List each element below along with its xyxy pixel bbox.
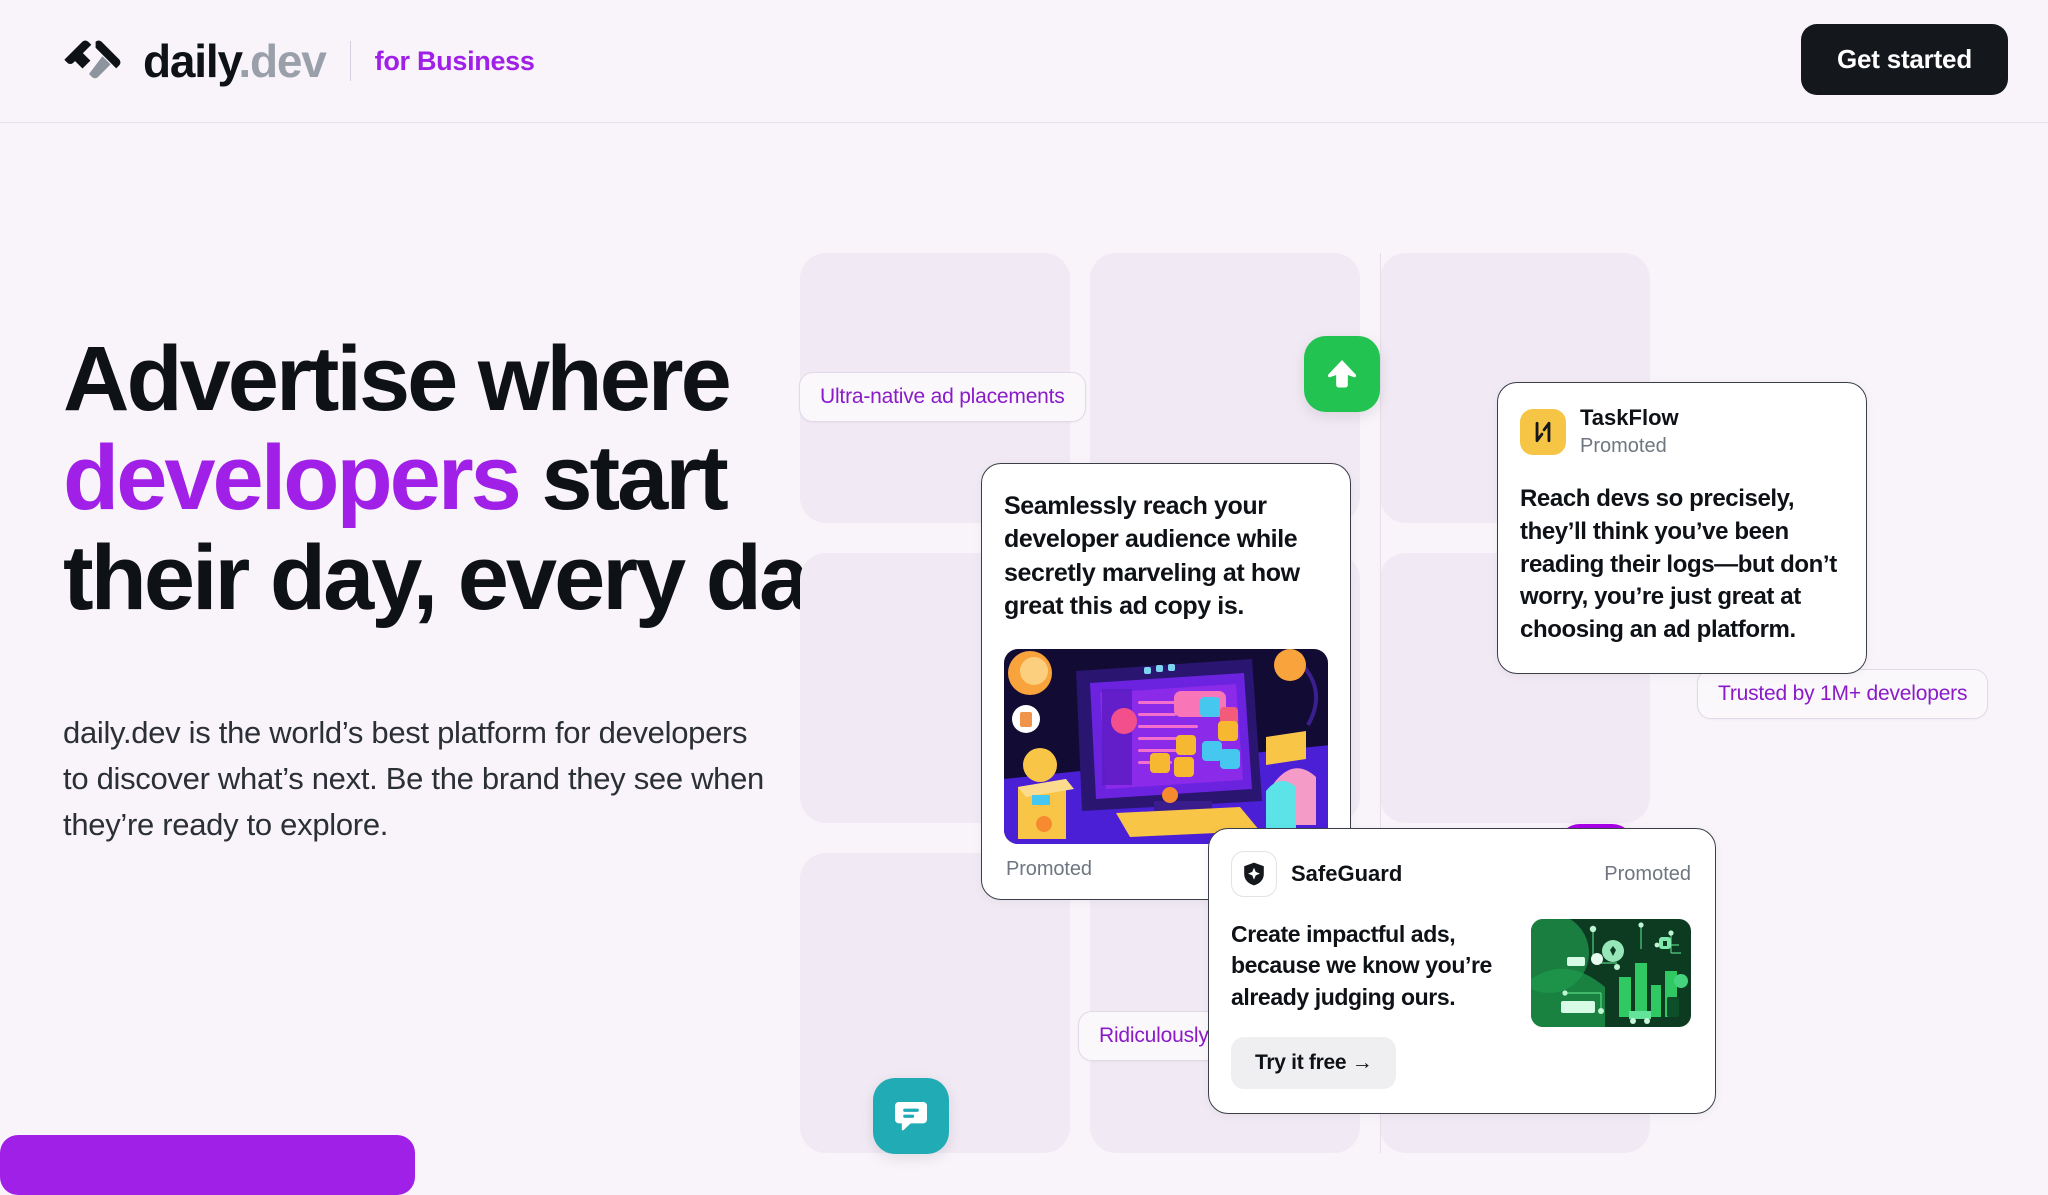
get-started-button[interactable]: Get started [1801,24,2008,95]
ad-card-safeguard[interactable]: SafeGuard Promoted Create impactful ads,… [1208,828,1716,1114]
header-divider [350,41,351,81]
ad-card-taskflow-body: Reach devs so precisely, they’ll think y… [1520,483,1844,646]
ad-card-taskflow-advertiser: TaskFlow [1580,405,1679,431]
brand-lockup[interactable]: daily.dev for Business [62,38,535,84]
hero-cta-button[interactable] [0,1135,415,1195]
wordmark-name: daily [143,35,238,87]
ad-card-safeguard-header: SafeGuard Promoted [1231,851,1691,897]
pill-ultra-native: Ultra-native ad placements [799,372,1086,422]
try-it-free-button[interactable]: Try it free → [1231,1037,1396,1089]
badge-comment [873,1078,949,1154]
ad-card-safeguard-thumbnail [1531,919,1691,1027]
hero-text-column: Advertise where developers start their d… [63,330,863,848]
daily-dev-chevron-logo-icon [62,39,126,83]
product-label: for Business [375,46,535,77]
shield-sparkle-icon [1231,851,1277,897]
page-title: Advertise where developers start their d… [63,330,863,628]
ad-card-taskflow-promoted-label: Promoted [1580,433,1679,459]
ad-card-safeguard-promoted-label: Promoted [1604,863,1691,886]
ad-card-native-title: Seamlessly reach your developer audience… [1004,490,1328,623]
ad-card-taskflow[interactable]: TaskFlow Promoted Reach devs so precisel… [1497,382,1867,674]
ad-card-safeguard-advertiser: SafeGuard [1291,861,1402,887]
ad-card-taskflow-header: TaskFlow Promoted [1520,405,1844,459]
badge-upvote [1304,336,1380,412]
taskflow-zigzag-icon [1520,409,1566,455]
comment-bubble-icon [891,1096,931,1136]
wordmark: daily.dev [143,38,326,84]
site-header: daily.dev for Business Get started [0,0,2048,123]
upvote-arrow-icon [1322,354,1362,394]
headline-part-1: Advertise where [63,328,729,430]
wordmark-suffix: .dev [238,35,325,87]
pill-trusted: Trusted by 1M+ developers [1697,669,1988,719]
ad-card-safeguard-body: Create impactful ads, because we know yo… [1231,919,1513,1013]
ad-card-native-thumbnail [1004,649,1328,844]
ad-showcase-canvas: Ultra-native ad placements Trusted by 1M… [880,123,2048,1152]
headline-accent: developers [63,427,519,529]
hero-subcopy: daily.dev is the world’s best platform f… [63,710,773,848]
